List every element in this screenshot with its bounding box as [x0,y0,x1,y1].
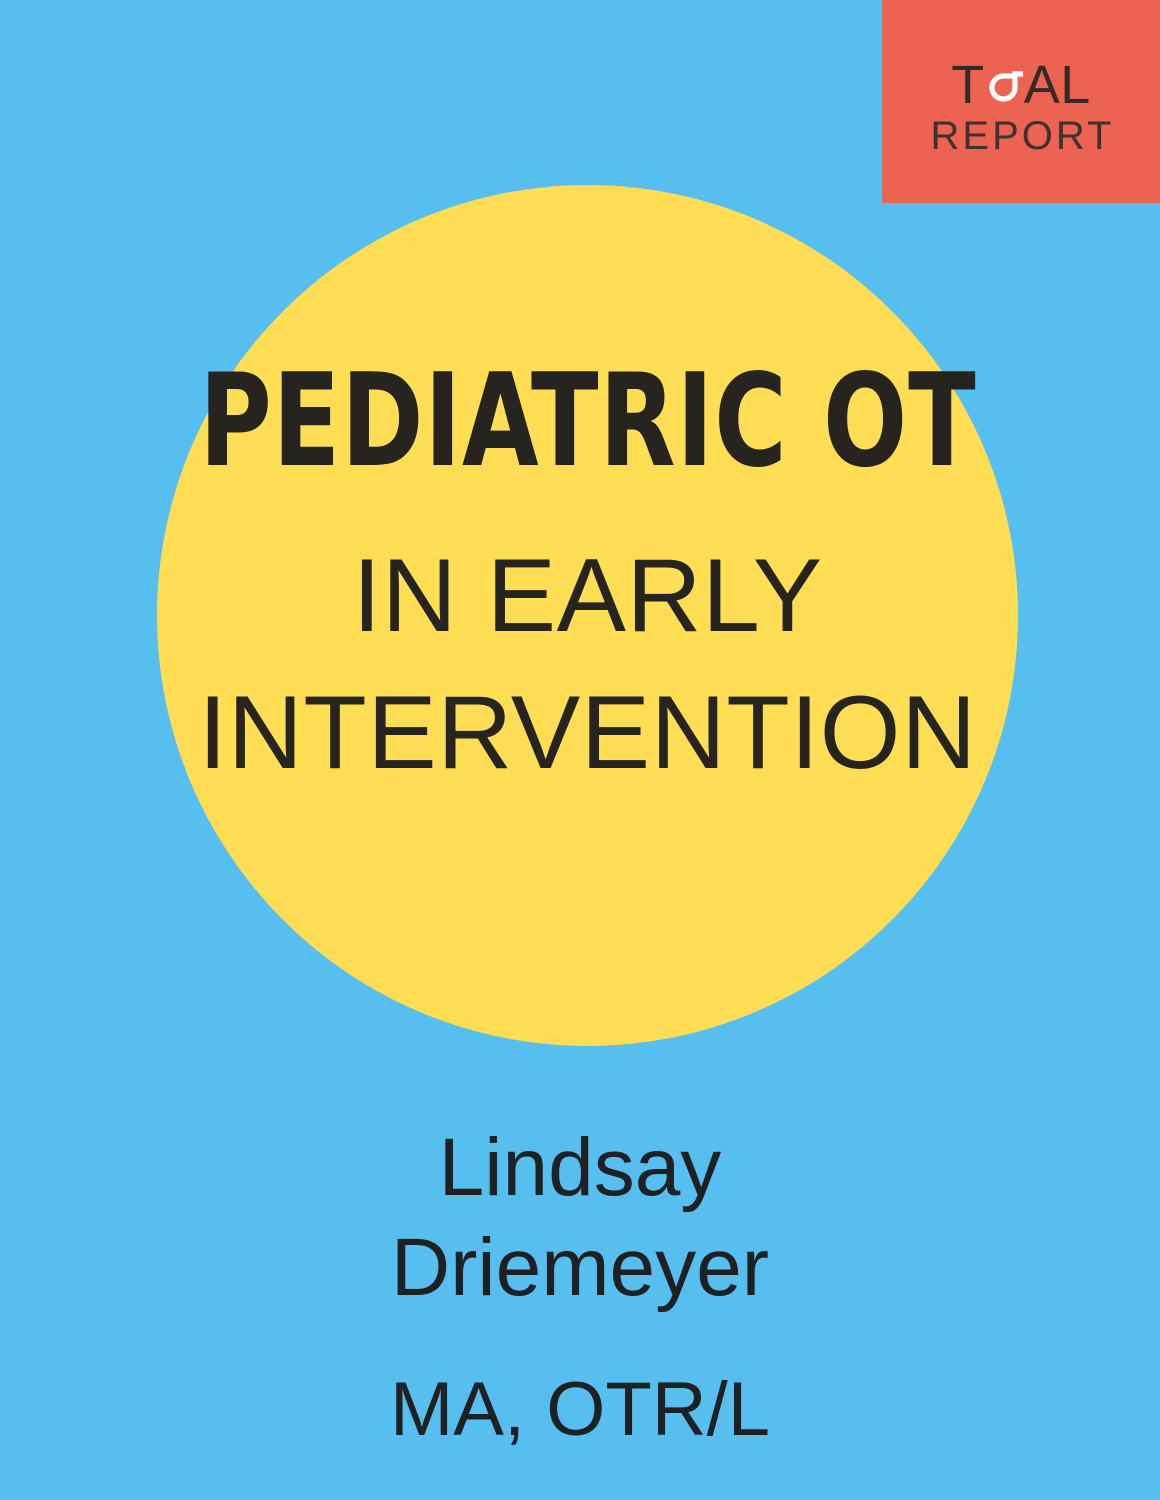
logo-wordmark-total: T AL [951,58,1091,112]
author-block: Lindsay Driemeyer [0,1118,1160,1318]
logo-wordmark-report: REPORT [928,116,1115,156]
author-last-name: Driemeyer [0,1218,1160,1318]
subtitle-line-2: INTERVENTION [198,665,976,802]
author-first-name: Lindsay [0,1118,1160,1218]
publisher-logo-block[interactable]: T AL REPORT [882,0,1160,203]
author-credentials: MA, OTR/L [0,1368,1160,1452]
page-title: PEDIATRIC OT [199,358,976,486]
subtitle-line-1: IN EARLY [198,528,976,665]
title-circle: PEDIATRIC OT IN EARLY INTERVENTION [157,185,1018,1046]
report-cover: T AL REPORT PEDIATRIC OT IN EARLY INTERV… [0,0,1160,1500]
ring-with-tail-icon [982,63,1026,107]
author-name: Lindsay Driemeyer [0,1118,1160,1318]
page-subtitle: IN EARLY INTERVENTION [198,528,976,803]
logo-letters-al: AL [1024,58,1091,112]
logo-letter-t: T [951,58,985,112]
